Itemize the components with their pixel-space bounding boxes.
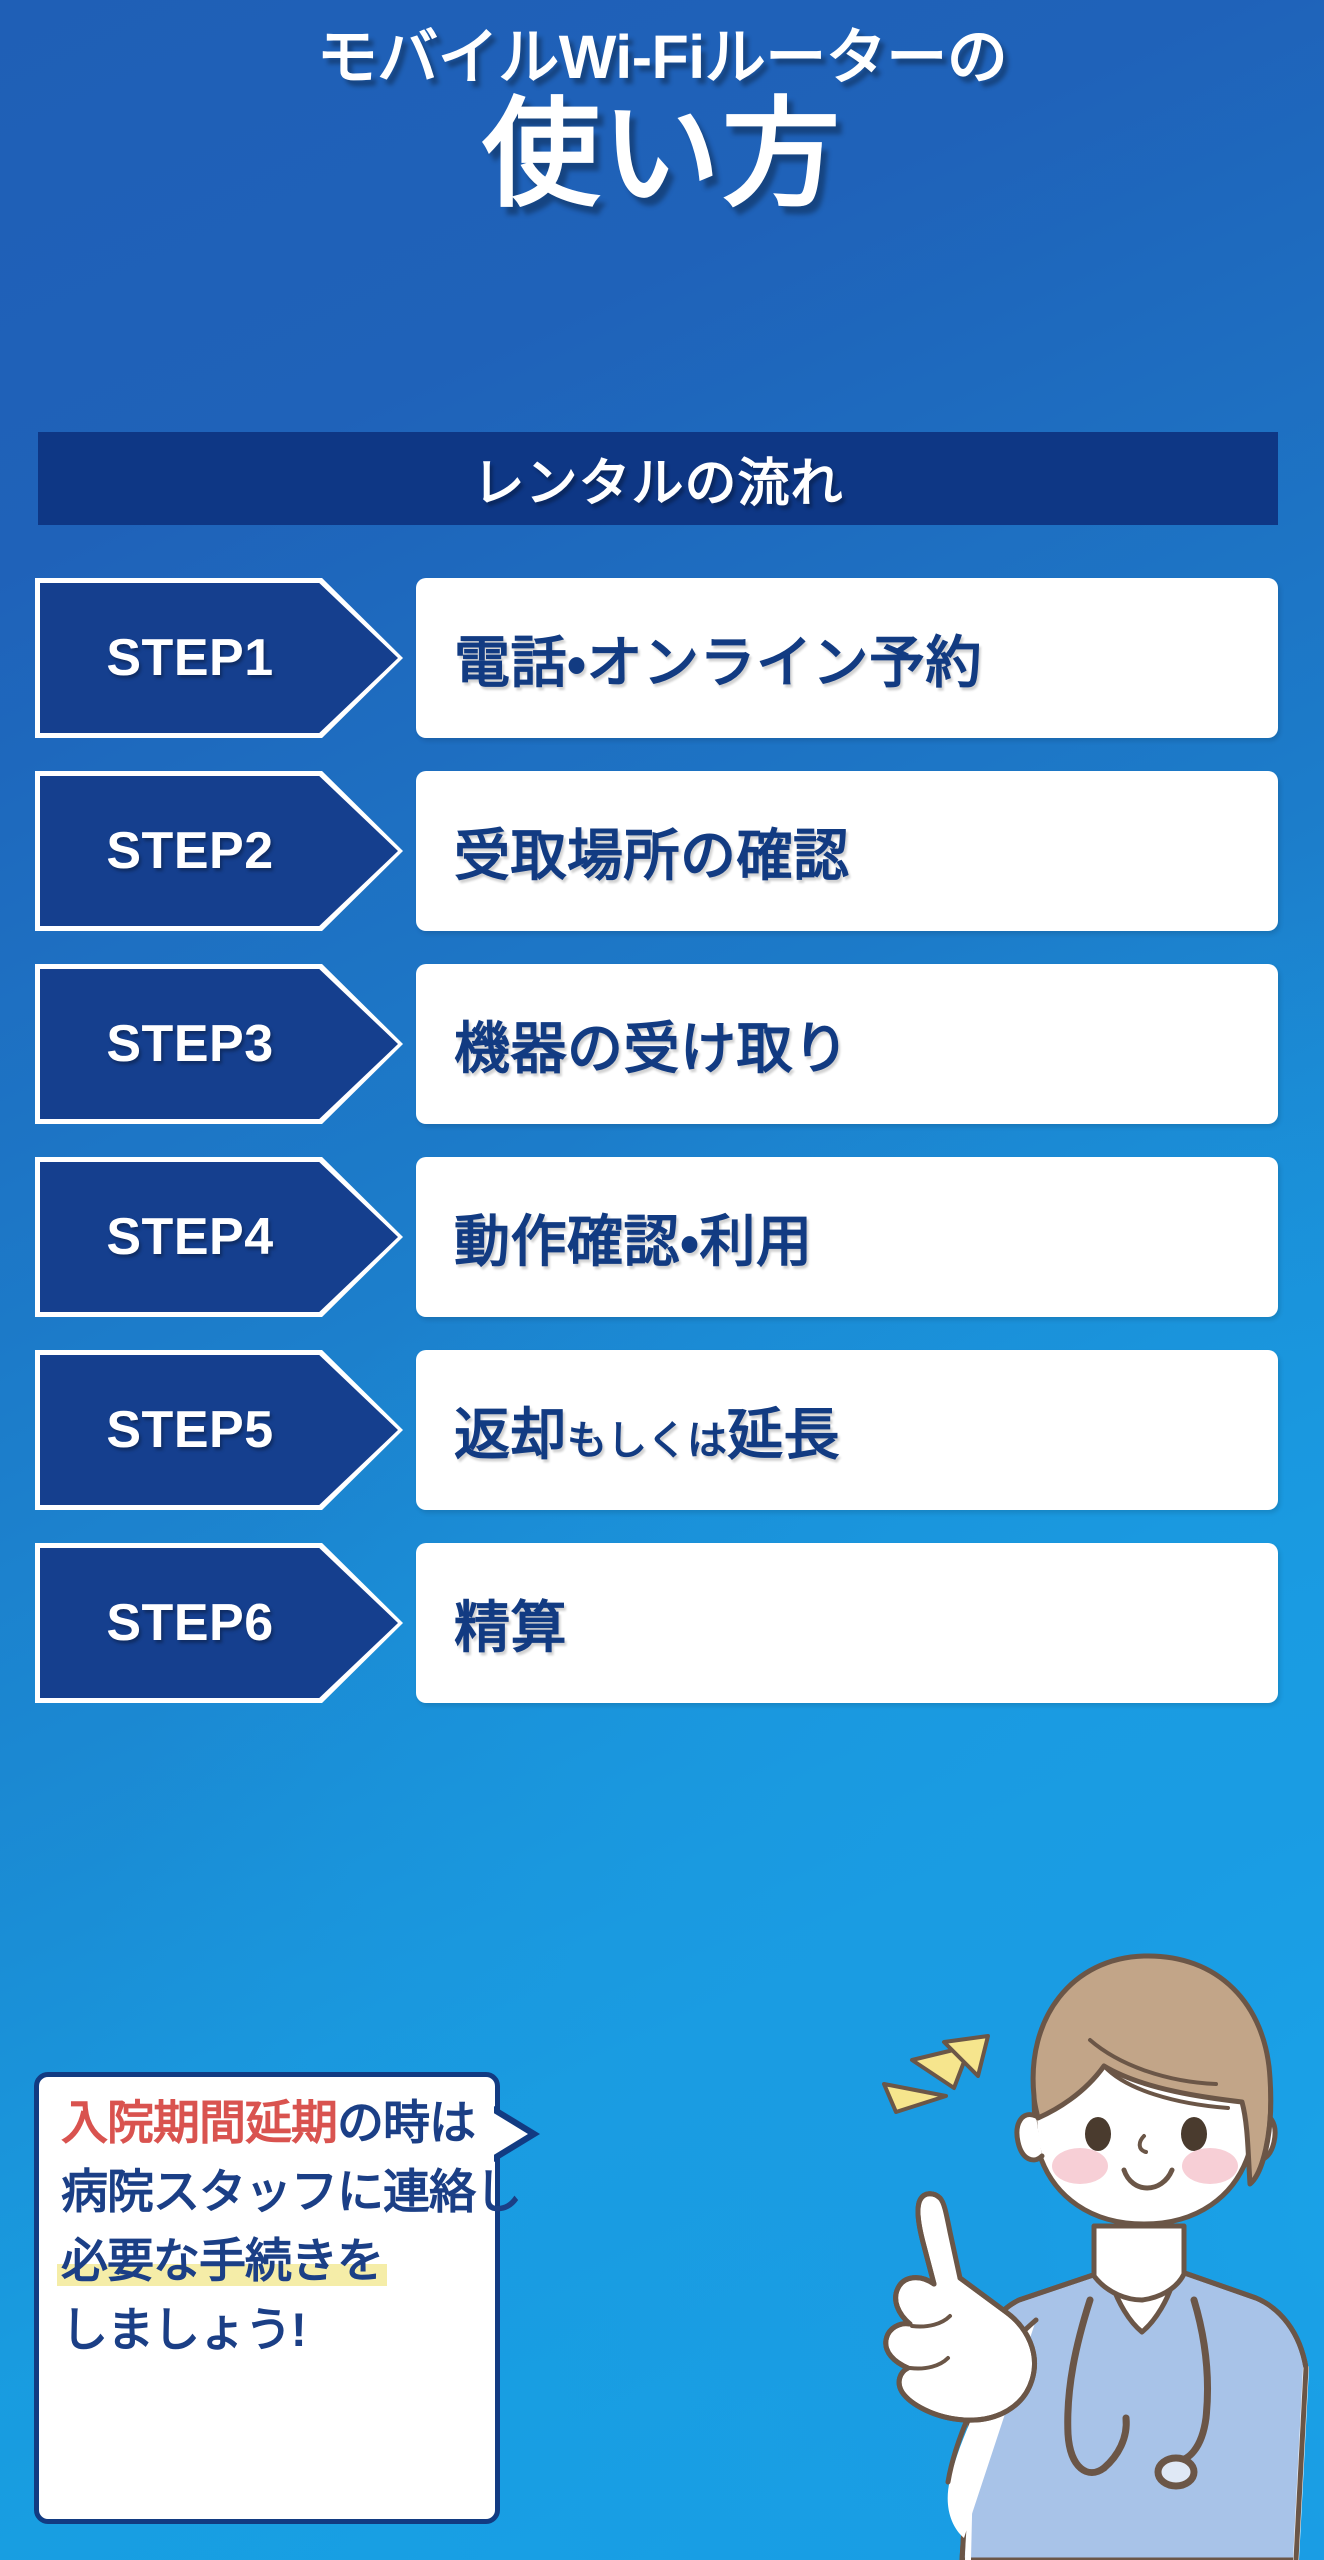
step-label: STEP2 [40, 771, 340, 931]
step-card[interactable]: 機器の受け取り [416, 964, 1278, 1124]
step-text: 機器の受け取り [454, 1004, 850, 1085]
bubble-line-3: 必要な手続きを [61, 2237, 495, 2284]
title-line-2: 使い方 [0, 89, 1324, 221]
step-row[interactable]: STEP2 受取場所の確認 [0, 771, 1324, 931]
step-row[interactable]: STEP4 動作確認・利用 [0, 1157, 1324, 1317]
step-card[interactable]: 返却もしくは延長 [416, 1350, 1278, 1510]
bubble-line-2: 病院スタッフに連絡し [61, 2168, 495, 2215]
speech-bubble-tail-inner [492, 2112, 528, 2156]
nurse-illustration [876, 1948, 1324, 2560]
step-row[interactable]: STEP5 返却もしくは延長 [0, 1350, 1324, 1510]
step-label: STEP3 [40, 964, 340, 1124]
section-header-label: レンタルの流れ [472, 441, 843, 516]
step-card[interactable]: 動作確認・利用 [416, 1157, 1278, 1317]
infographic-poster: モバイルWi-Fiルーターの 使い方 レンタルの流れ STEP1 電話・オンライ… [0, 0, 1324, 2560]
bubble-highlight-text: 必要な手続きを [61, 2237, 383, 2284]
step-row[interactable]: STEP6 精算 [0, 1543, 1324, 1703]
note-speech-bubble: 入院期間延期の時は 病院スタッフに連絡し 必要な手続きを しましょう! [34, 2072, 500, 2524]
step-text-pre: 返却 [454, 1403, 567, 1466]
bubble-line-1: 入院期間延期の時は [61, 2099, 495, 2146]
step-text: 受取場所の確認 [454, 811, 850, 892]
step-card[interactable]: 受取場所の確認 [416, 771, 1278, 931]
step-text-small: もしくは [567, 1419, 727, 1463]
poster-title: モバイルWi-Fiルーターの 使い方 [0, 22, 1324, 221]
step-row[interactable]: STEP1 電話・オンライン予約 [0, 578, 1324, 738]
section-header-bar: レンタルの流れ [38, 432, 1278, 525]
sparkle-icon [884, 2036, 988, 2112]
step-text: 精算 [454, 1583, 567, 1664]
step-label: STEP6 [40, 1543, 340, 1703]
step-label: STEP4 [40, 1157, 340, 1317]
step-list: STEP1 電話・オンライン予約 STEP2 受取場所の確認 STEP3 機器の… [0, 578, 1324, 1736]
step-card[interactable]: 電話・オンライン予約 [416, 578, 1278, 738]
step-text: 動作確認・利用 [454, 1197, 813, 1278]
step-card[interactable]: 精算 [416, 1543, 1278, 1703]
step-text: 返却もしくは延長 [454, 1390, 840, 1471]
step-label: STEP1 [40, 578, 340, 738]
step-text: 電話・オンライン予約 [454, 618, 982, 699]
bubble-emphasis-red: 入院期間延期 [61, 2096, 337, 2149]
step-row[interactable]: STEP3 機器の受け取り [0, 964, 1324, 1124]
bubble-line-1-rest: の時は [337, 2096, 475, 2149]
title-line-1: モバイルWi-Fiルーターの [0, 22, 1324, 93]
step-text-post: 延長 [727, 1403, 840, 1466]
bubble-line-4: しましょう! [61, 2306, 495, 2353]
step-label: STEP5 [40, 1350, 340, 1510]
